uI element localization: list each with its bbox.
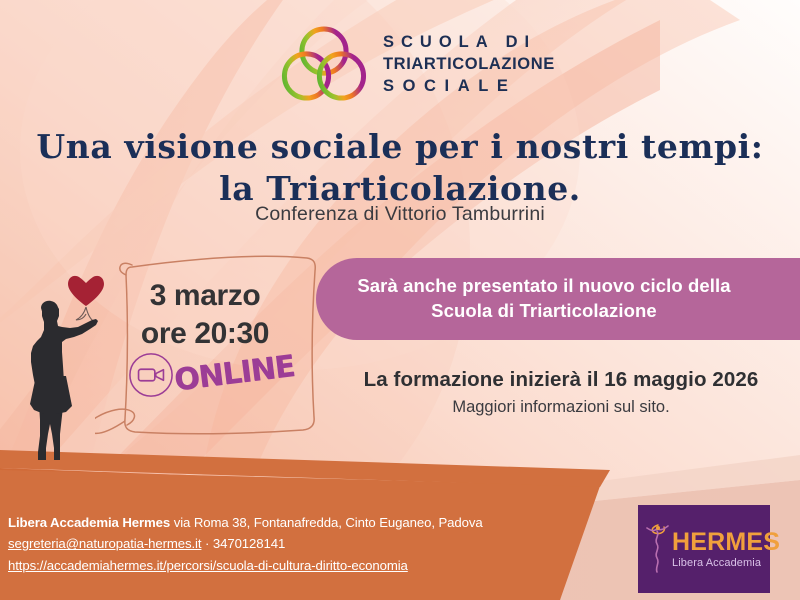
footer-url-row: https://accademiahermes.it/percorsi/scuo… — [8, 555, 483, 576]
banner-line-1: Sarà anche presentato il nuovo ciclo del… — [357, 274, 730, 299]
event-time: ore 20:30 — [110, 315, 300, 353]
page-title: Una visione sociale per i nostri tempi: … — [0, 126, 800, 209]
footer-org-name: Libera Accademia Hermes — [8, 515, 170, 530]
hermes-subtitle: Libera Accademia — [672, 558, 780, 569]
speaker-subtitle: Conferenza di Vittorio Tamburrini — [0, 203, 800, 226]
event-date: 3 marzo — [110, 277, 300, 315]
more-info-text: Maggiori informazioni sul sito. — [330, 398, 792, 417]
hermes-name: HERMES — [672, 530, 780, 555]
hermes-academy-logo: HERMES Libera Accademia — [638, 505, 770, 593]
footer-contact-info: Libera Accademia Hermes via Roma 38, Fon… — [8, 512, 483, 576]
triquetra-icon — [278, 18, 370, 110]
logo-line-3: SOCIALE — [383, 77, 555, 96]
footer-separator: · — [201, 536, 212, 551]
announcement-banner-text: Sarà anche presentato il nuovo ciclo del… — [357, 274, 758, 323]
event-datetime: 3 marzo ore 20:30 — [110, 277, 300, 353]
footer-email-link[interactable]: segreteria@naturopatia-hermes.it — [8, 536, 201, 551]
footer-org-row: Libera Accademia Hermes via Roma 38, Fon… — [8, 512, 483, 533]
caduceus-icon — [646, 519, 670, 579]
logo-line-1: SCUOLA DI — [383, 33, 555, 52]
hermes-logo-text: HERMES Libera Accademia — [672, 530, 780, 569]
footer-website-link[interactable]: https://accademiahermes.it/percorsi/scuo… — [8, 558, 408, 573]
school-logo-text: SCUOLA DI TRIARTICOLAZIONE SOCIALE — [383, 33, 555, 96]
footer-phone: 3470128141 — [213, 536, 285, 551]
online-badge: ONLINE — [128, 352, 295, 398]
announcement-banner: Sarà anche presentato il nuovo ciclo del… — [316, 258, 800, 340]
banner-line-2: Scuola di Triarticolazione — [357, 299, 730, 324]
video-camera-icon — [128, 352, 174, 398]
poster-canvas: SCUOLA DI TRIARTICOLAZIONE SOCIALE Una v… — [0, 0, 800, 600]
logo-line-2: TRIARTICOLAZIONE — [383, 55, 555, 74]
headline-line-1: Una visione sociale per i nostri tempi: — [36, 127, 763, 166]
online-label: ONLINE — [172, 348, 296, 397]
footer-address: via Roma 38, Fontanafredda, Cinto Eugane… — [170, 515, 482, 530]
course-start-text: La formazione inizierà il 16 maggio 2026 — [330, 368, 792, 392]
footer-email-row: segreteria@naturopatia-hermes.it · 34701… — [8, 533, 483, 554]
school-logo: SCUOLA DI TRIARTICOLAZIONE SOCIALE — [278, 18, 555, 110]
